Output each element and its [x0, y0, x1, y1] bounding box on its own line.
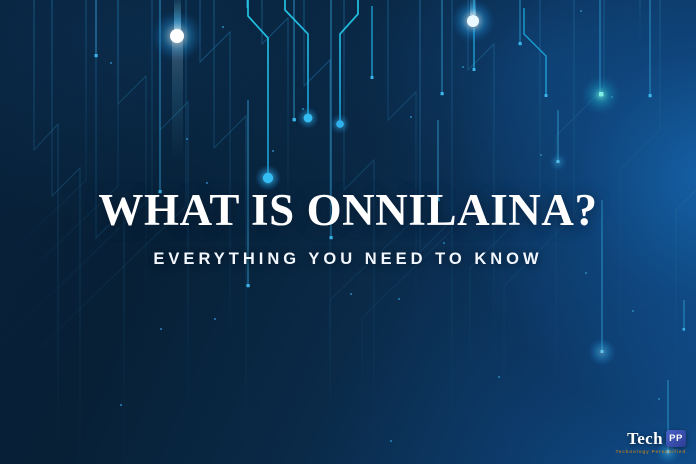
logo-text-tech: Tech: [627, 430, 663, 447]
page-title: WHAT IS ONNILAINA?: [98, 187, 597, 234]
techpp-logo[interactable]: Tech PP Technology Personified: [616, 430, 686, 455]
logo-tagline: Technology Personified: [616, 450, 686, 455]
logo-badge-pp: PP: [666, 430, 686, 447]
logo-wordmark: Tech PP: [627, 430, 686, 447]
page-subtitle: EVERYTHING YOU NEED TO KNOW: [153, 250, 542, 269]
banner-image: WHAT IS ONNILAINA? EVERYTHING YOU NEED T…: [0, 0, 696, 464]
banner-text-block: WHAT IS ONNILAINA? EVERYTHING YOU NEED T…: [0, 0, 696, 464]
